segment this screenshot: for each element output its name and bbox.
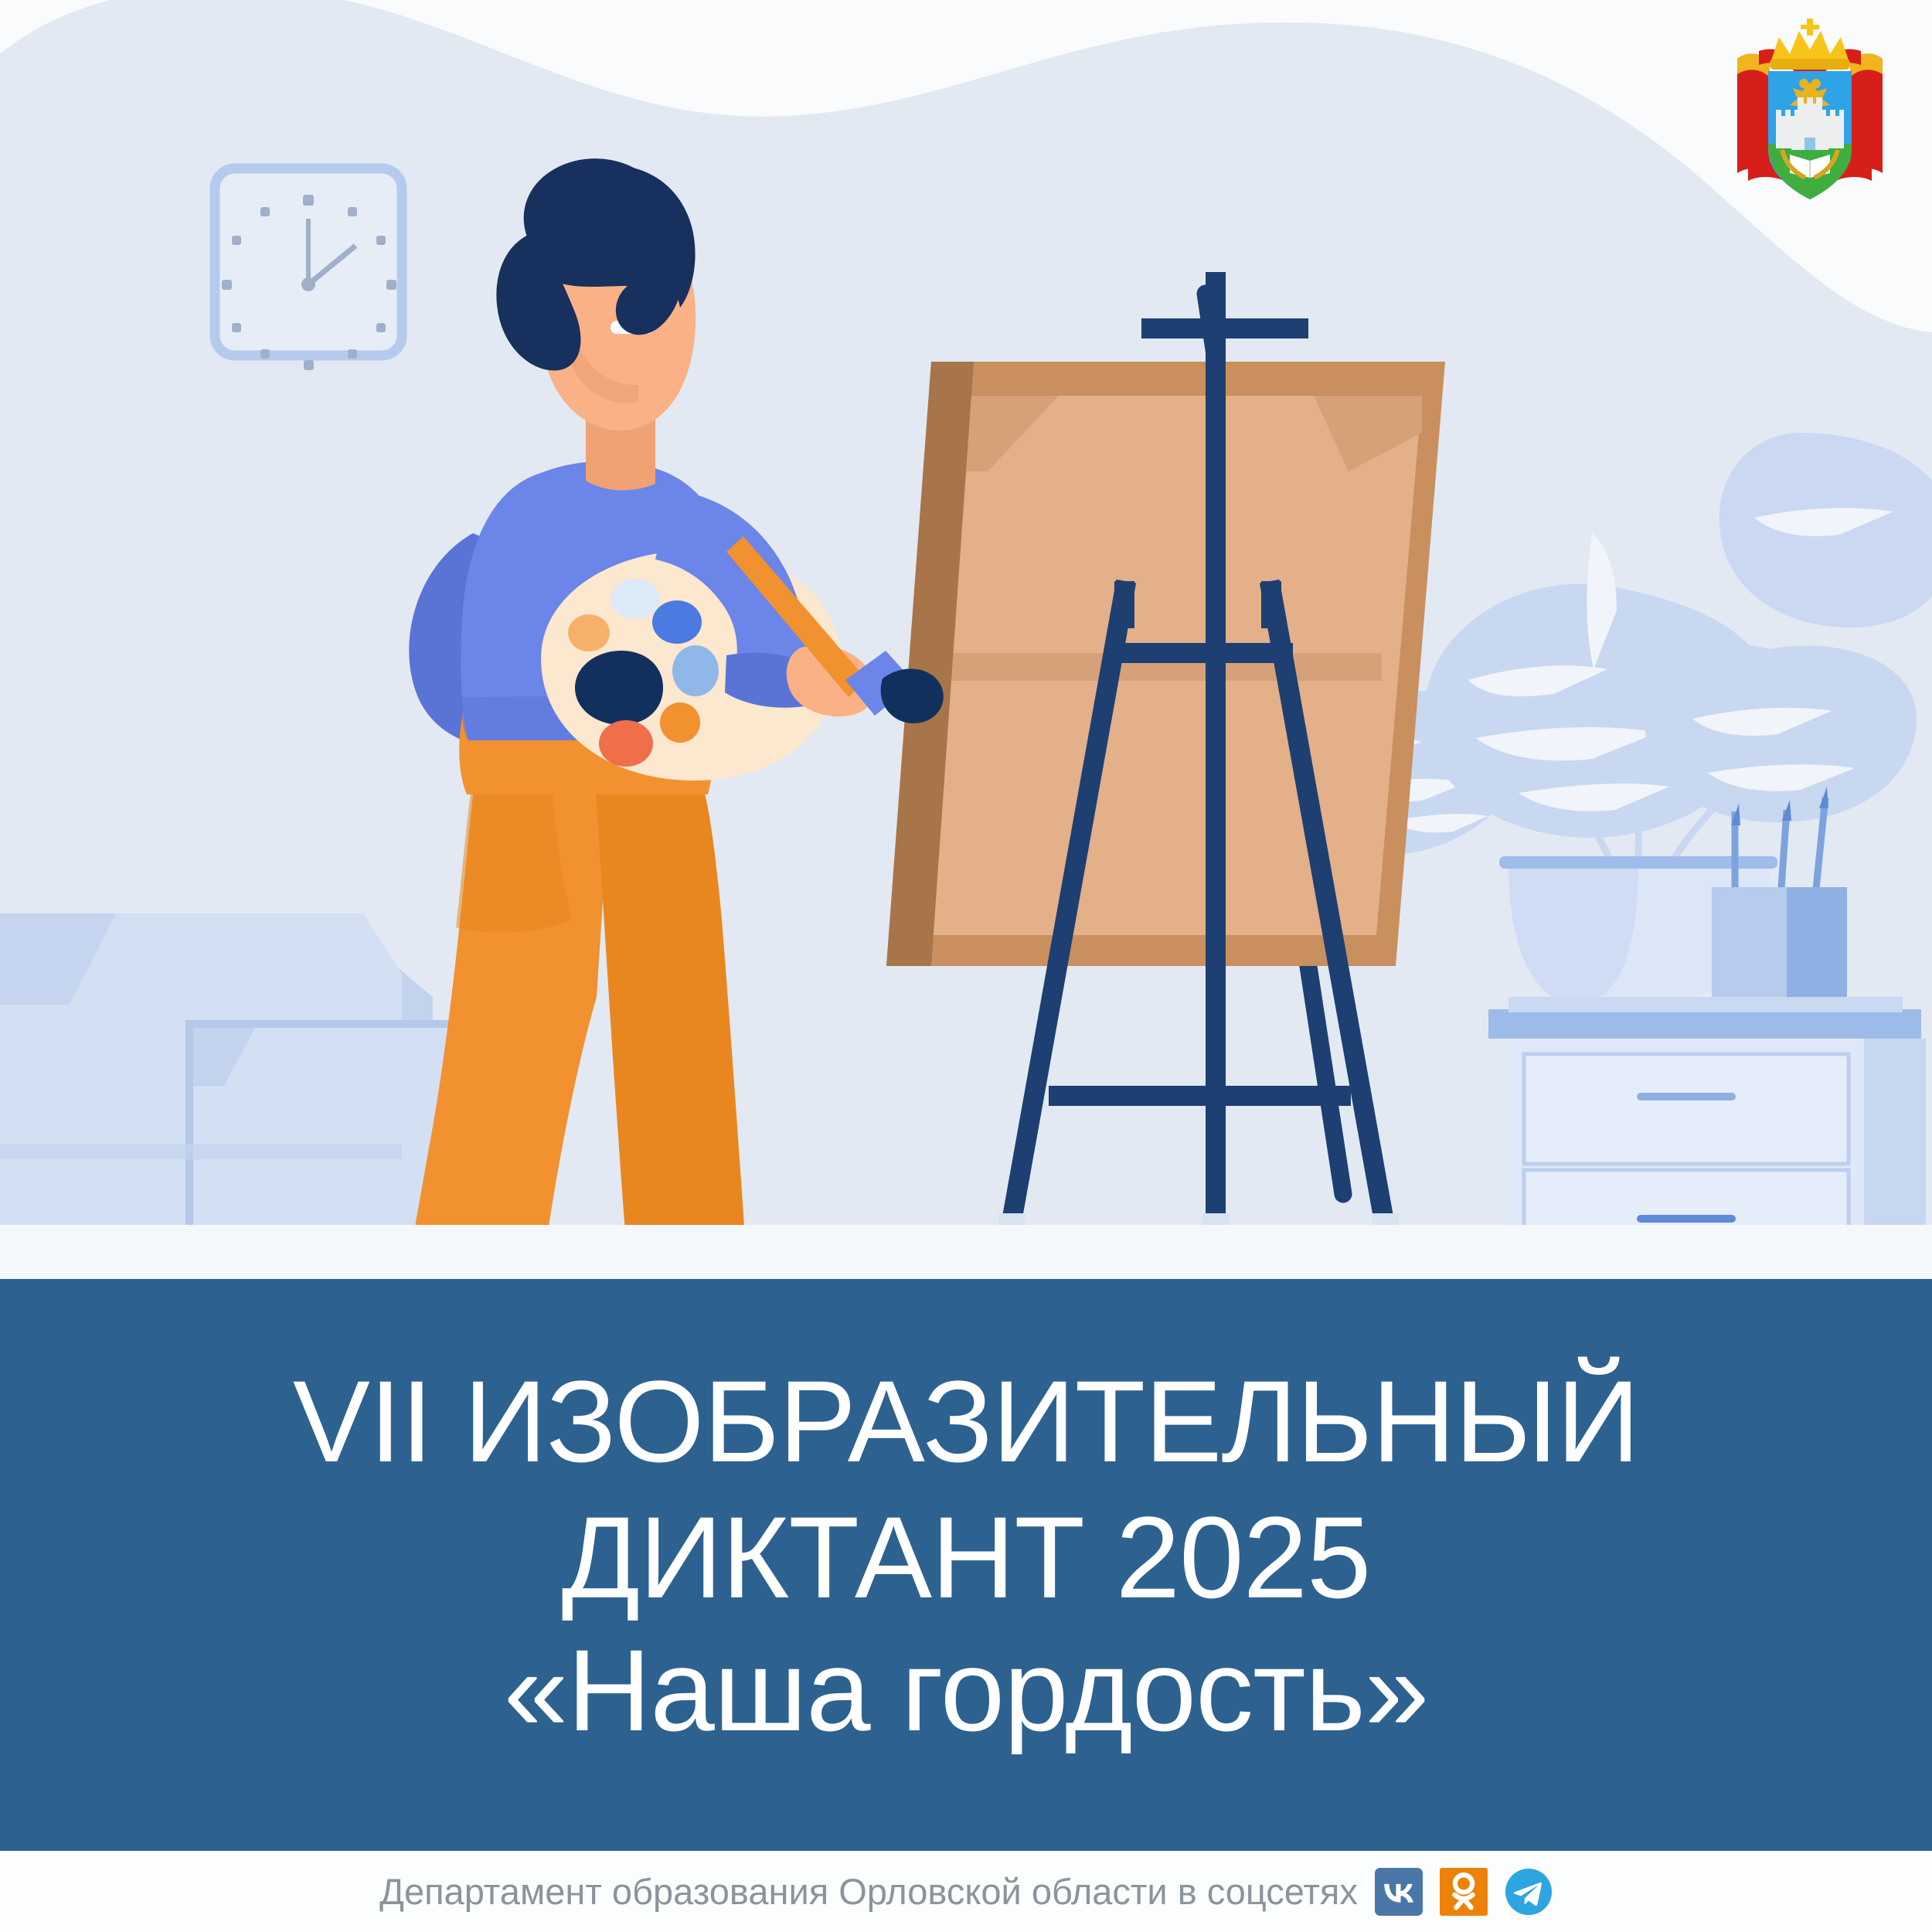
footer-bar: Департамент образования Орловской област… [0,1851,1932,1932]
poster-root: VII ИЗОБРАЗИТЕЛЬНЫЙ ДИКТАНТ 2025 «Наша г… [0,0,1932,1932]
canvas [886,362,1445,966]
palette-hole [575,651,663,725]
palette-dot-1 [611,579,660,619]
title-banner: VII ИЗОБРАЗИТЕЛЬНЫЙ ДИКТАНТ 2025 «Наша г… [0,1279,1932,1851]
shield [1768,71,1852,199]
title-line-2: ДИКТАНТ 2025 [562,1499,1371,1615]
wall-clock [215,168,402,370]
studio-illustration [0,0,1932,1283]
title-line-3: «Наша гордость» [504,1632,1429,1748]
palette-dot-3 [672,645,719,696]
oryol-oblast-coat-of-arms-icon [1725,14,1895,215]
palette-dot-4 [568,614,610,651]
palette-dot-2 [652,600,702,644]
title-line-1: VII ИЗОБРАЗИТЕЛЬНЫЙ [293,1363,1639,1479]
palette-dot-5 [599,720,653,767]
palette-dot-6 [660,702,700,743]
floor [0,1225,1932,1283]
vk-icon[interactable] [1375,1868,1423,1916]
ok-icon[interactable] [1440,1868,1488,1916]
footer-label: Департамент образования Орловской област… [379,1870,1358,1913]
telegram-icon[interactable] [1505,1868,1553,1916]
clock-center [301,277,315,291]
crown [1770,19,1850,70]
